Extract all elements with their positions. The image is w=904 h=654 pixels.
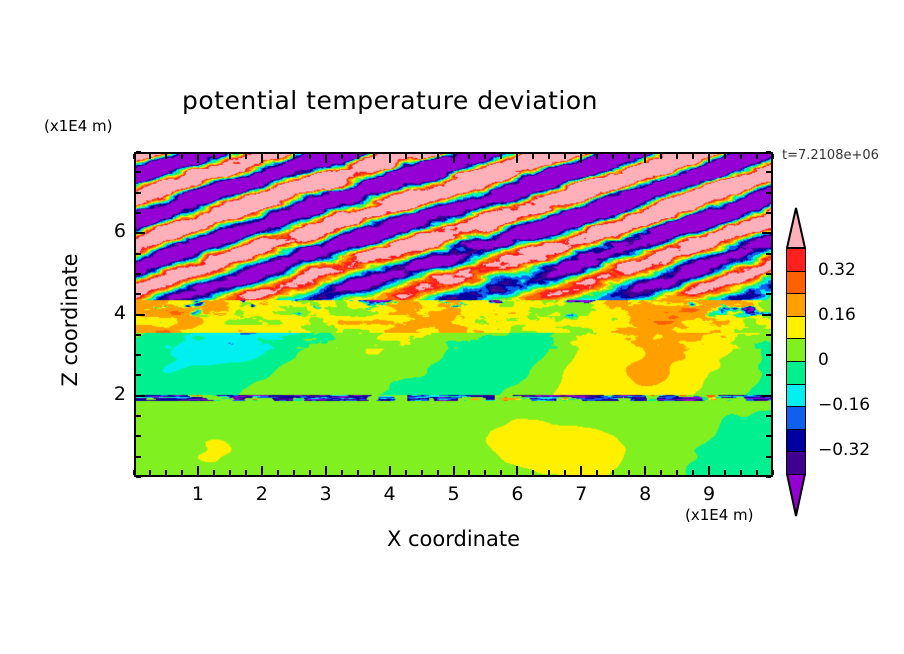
x-axis-unit-label: (x1E4 m) (685, 506, 754, 524)
colorbar: 0.320.160−0.16−0.32 (782, 206, 810, 518)
contour-field (136, 154, 771, 475)
colorbar-band (786, 293, 806, 317)
colorbar-band (786, 338, 806, 362)
y-axis-title: Z coordinate (58, 210, 82, 430)
colorbar-over-arrow (782, 206, 810, 248)
time-annotation: t=7.2108e+06 (782, 148, 879, 163)
colorbar-band (786, 451, 806, 475)
x-tick-label: 9 (689, 483, 729, 505)
colorbar-tick-label: −0.16 (818, 395, 870, 415)
x-axis-title: X coordinate (134, 527, 773, 551)
colorbar-band (786, 248, 806, 272)
colorbar-band (786, 271, 806, 295)
x-tick-label: 2 (242, 483, 282, 505)
x-tick-label: 5 (434, 483, 474, 505)
contour-plot-area (134, 152, 773, 477)
colorbar-tick-label: 0.32 (818, 260, 856, 280)
x-tick-label: 6 (497, 483, 537, 505)
colorbar-band (786, 361, 806, 385)
page-title: potential temperature deviation (0, 86, 780, 115)
colorbar-band (786, 429, 806, 453)
colorbar-band (786, 384, 806, 408)
y-tick-label: 2 (86, 383, 126, 405)
x-tick-label: 7 (561, 483, 601, 505)
x-tick-label: 3 (306, 483, 346, 505)
colorbar-under-arrow (782, 474, 810, 518)
z-axis-unit-label: (x1E4 m) (44, 117, 113, 135)
colorbar-tick-label: 0.16 (818, 305, 856, 325)
y-tick-label: 6 (86, 220, 126, 242)
colorbar-tick-label: −0.32 (818, 440, 870, 460)
colorbar-tick-label: 0 (818, 350, 829, 370)
x-tick-label: 8 (625, 483, 665, 505)
x-tick-label: 4 (370, 483, 410, 505)
x-tick-label: 1 (178, 483, 218, 505)
colorbar-band (786, 316, 806, 340)
colorbar-band (786, 406, 806, 430)
y-tick-label: 4 (86, 302, 126, 324)
